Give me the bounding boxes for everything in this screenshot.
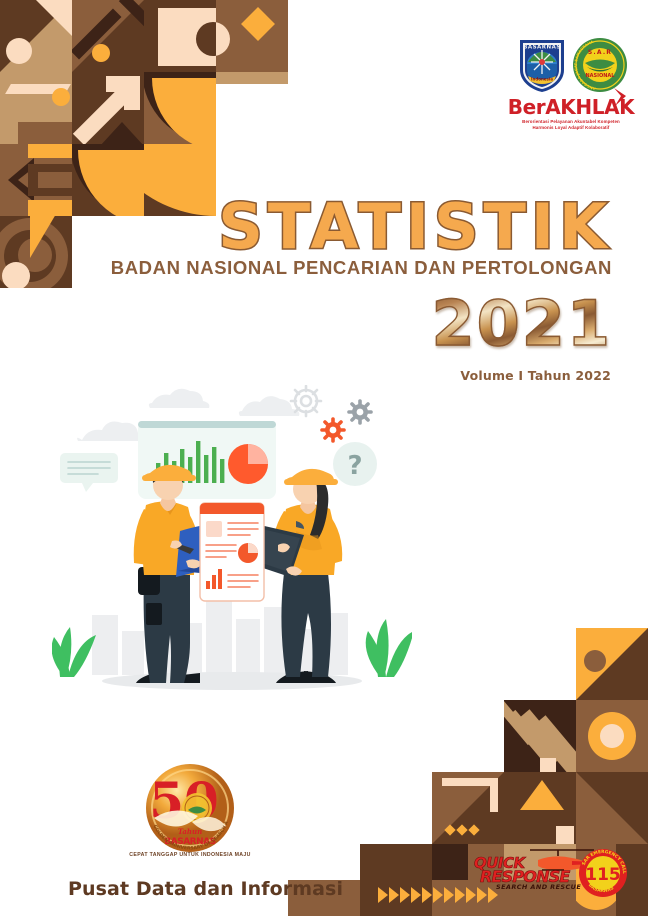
basarnas-emblem-icon: BASARNAS Indonesia [514, 36, 570, 94]
page-subtitle: BADAN NASIONAL PENCARIAN DAN PERTOLONGAN [111, 259, 612, 278]
pattern-tile [72, 72, 144, 144]
emergency-call-badge-icon: 115 SAR EMERGENCY CALL BASARNAS [578, 848, 628, 898]
pattern-tile [504, 700, 576, 772]
pattern-tile [576, 700, 648, 772]
pattern-tile [144, 144, 216, 216]
gear-icon [291, 386, 321, 416]
cover-page: BASARNAS Indonesia S.A.R NASIONAL ANGGAD… [0, 0, 648, 916]
doc-pie-icon [238, 543, 258, 563]
dashboard-pie-chart [228, 444, 268, 484]
pattern-tile [432, 772, 504, 844]
pattern-tile [216, 72, 288, 84]
quick-response-badge: QUICK RESPONSE SEARCH AND RESCUE 115 SAR… [470, 850, 630, 896]
berakhlak-tagline: Berorientasi Pelayanan Akuntabel Kompete… [498, 119, 644, 132]
svg-text:NASIONAL: NASIONAL [585, 73, 615, 79]
report-document [200, 503, 264, 601]
page-title: STATISTIK [218, 196, 612, 258]
emergency-number: 115 [585, 865, 621, 885]
pattern-dot [52, 88, 70, 106]
gear-icon [349, 401, 371, 423]
cover-illustration: ? [52, 385, 412, 705]
anniversary-tagline: CEPAT TANGGAP UNTUK INDONESIA MAJU [60, 852, 320, 858]
pattern-bar [28, 200, 72, 216]
pattern-tile [576, 628, 648, 700]
pattern-bar [28, 144, 72, 158]
berakhlak-swoosh-icon [612, 87, 628, 107]
pattern-tile [504, 772, 576, 844]
pattern-tile [72, 144, 144, 216]
pattern-tile [72, 0, 144, 72]
pattern-tile [0, 0, 72, 72]
page-year: 2021 [431, 293, 612, 355]
anniversary-50-logo: 50 Tahun BASARNAS GOLDEN ANNIVERSARY OF … [140, 760, 240, 860]
berakhlak-logo: BerAKHLAK Berorientasi Pelayanan Akuntab… [498, 97, 644, 132]
pattern-tile [0, 72, 72, 144]
pattern-tile [144, 0, 216, 72]
pattern-tile [144, 72, 216, 144]
tagline-line-2: Harmonis Loyal Adaptif Kolaboratif [498, 125, 644, 131]
publisher-name: Pusat Data dan Informasi [68, 878, 343, 900]
anniversary-tahun: Tahun [178, 827, 202, 836]
page-volume: Volume I Tahun 2022 [460, 368, 611, 383]
svg-text:BASARNAS: BASARNAS [523, 45, 561, 51]
gear-icon [322, 419, 344, 441]
text-bubble [60, 453, 118, 492]
pattern-tile [0, 216, 72, 288]
pattern-tile [216, 0, 288, 72]
quick-response-line3: SEARCH AND RESCUE [496, 883, 581, 891]
header-emblems: BASARNAS Indonesia S.A.R NASIONAL ANGGAD… [498, 36, 644, 140]
question-mark: ? [347, 451, 362, 481]
sar-nasional-emblem-icon: S.A.R NASIONAL ANGGADA JAGAT SAMAGRAHA [572, 37, 628, 93]
pattern-tile [576, 772, 648, 844]
svg-text:Indonesia: Indonesia [531, 77, 553, 82]
svg-text:S.A.R: S.A.R [588, 49, 612, 56]
plant-left [52, 627, 96, 677]
plant-right [366, 619, 412, 677]
